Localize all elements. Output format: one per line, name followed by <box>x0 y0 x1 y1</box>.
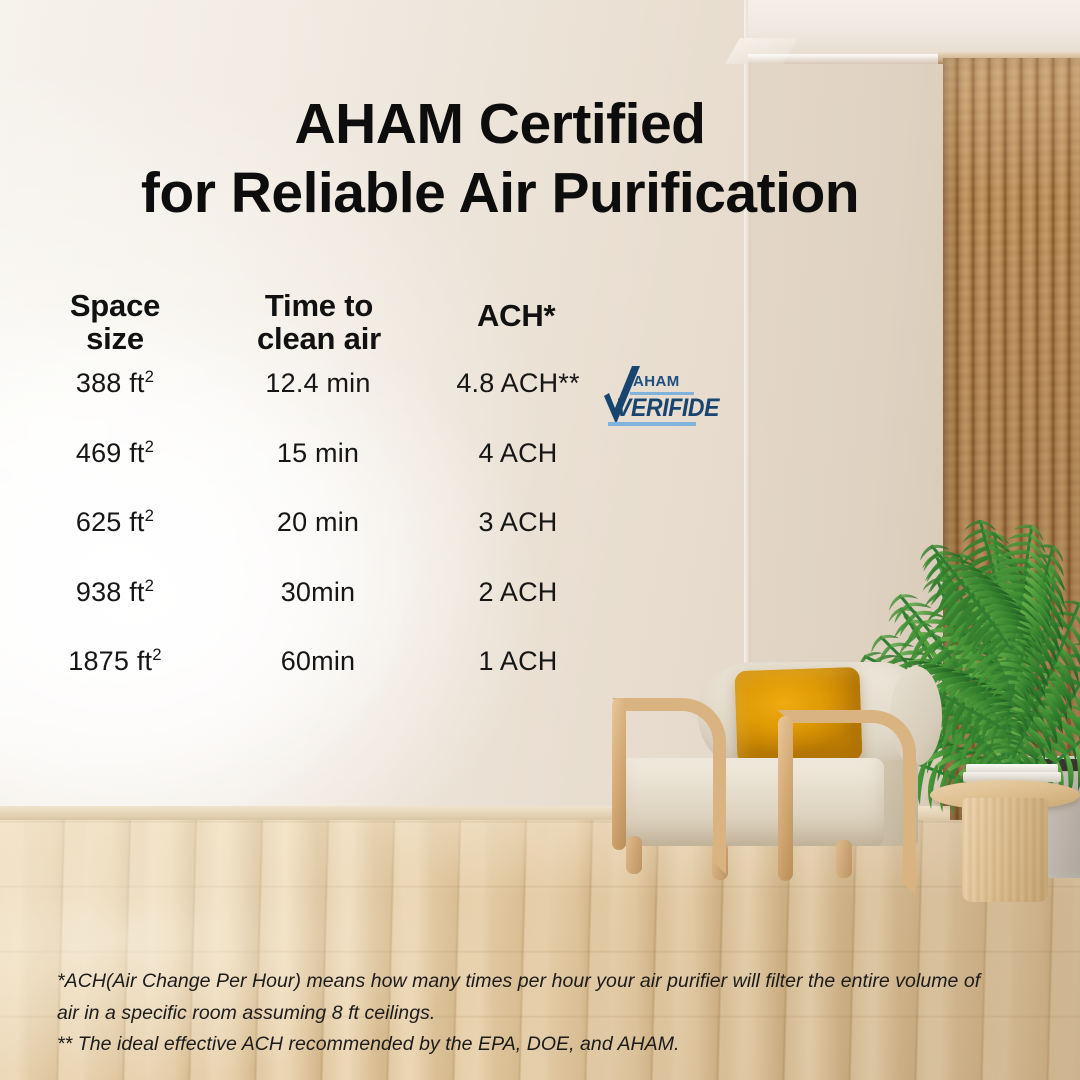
armchair <box>600 640 960 900</box>
aham-brand-text: AHAM <box>633 373 680 390</box>
cell-time-to-clean: 30min <box>218 577 418 608</box>
unit-superscript: 2 <box>152 645 162 664</box>
table-row: 1875 ft260min1 ACH <box>0 646 640 716</box>
column-header-space-size: Space size <box>62 290 168 356</box>
cell-space-size: 625 ft2 <box>25 507 205 538</box>
armchair-arm-post-left <box>612 698 626 850</box>
cell-ach: 2 ACH <box>418 577 618 608</box>
cell-time-to-clean: 15 min <box>218 438 418 469</box>
ach-table: Space size Time to clean air ACH* 388 ft… <box>0 290 640 716</box>
verifide-program-text: VERIFIDE <box>616 394 719 423</box>
column-header-ach: ACH* <box>477 300 555 333</box>
headline: AHAM Certified for Reliable Air Purifica… <box>0 90 1000 228</box>
footnote-line-2: air in a specific room assuming 8 ft cei… <box>57 998 1037 1030</box>
side-table-base <box>962 798 1048 902</box>
cell-space-size: 469 ft2 <box>25 438 205 469</box>
footnote-line-1: *ACH(Air Change Per Hour) means how many… <box>57 966 1037 998</box>
armchair-arm-post-right <box>778 716 793 881</box>
cell-time-to-clean: 20 min <box>218 507 418 538</box>
cell-time-to-clean: 60min <box>218 646 418 677</box>
aham-verifide-badge: AHAM VERIFIDE <box>600 368 696 430</box>
unit-superscript: 2 <box>145 506 155 525</box>
armchair-arm-right <box>778 710 916 896</box>
headline-line-2: for Reliable Air Purification <box>0 159 1000 228</box>
table-row: 388 ft212.4 min4.8 ACH** <box>0 368 640 438</box>
cell-space-size: 1875 ft2 <box>25 646 205 677</box>
cell-ach: 4.8 ACH** <box>418 368 618 399</box>
cell-ach: 4 ACH <box>418 438 618 469</box>
cell-time-to-clean: 12.4 min <box>218 368 418 399</box>
promo-graphic: AHAM Certified for Reliable Air Purifica… <box>0 0 1080 1080</box>
headline-line-1: AHAM Certified <box>0 90 1000 159</box>
armchair-arm-left <box>612 698 726 874</box>
ceiling-soffit <box>748 0 1080 58</box>
unit-superscript: 2 <box>145 437 155 456</box>
footnotes: *ACH(Air Change Per Hour) means how many… <box>57 966 1037 1061</box>
table-header-row: Space size Time to clean air ACH* <box>0 290 640 368</box>
column-header-time-to-clean-air: Time to clean air <box>252 290 386 356</box>
unit-superscript: 2 <box>145 367 155 386</box>
verifide-underline-bar <box>608 422 696 426</box>
side-table <box>930 762 1080 902</box>
cell-ach: 3 ACH <box>418 507 618 538</box>
cell-space-size: 938 ft2 <box>25 577 205 608</box>
table-body: 388 ft212.4 min4.8 ACH**469 ft215 min4 A… <box>0 368 640 716</box>
cell-ach: 1 ACH <box>418 646 618 677</box>
table-row: 469 ft215 min4 ACH <box>0 438 640 508</box>
footnote-line-3: ** The ideal effective ACH recommended b… <box>57 1029 1037 1061</box>
table-row: 625 ft220 min3 ACH <box>0 507 640 577</box>
unit-superscript: 2 <box>145 576 155 595</box>
cell-space-size: 388 ft2 <box>25 368 205 399</box>
table-row: 938 ft230min2 ACH <box>0 577 640 647</box>
